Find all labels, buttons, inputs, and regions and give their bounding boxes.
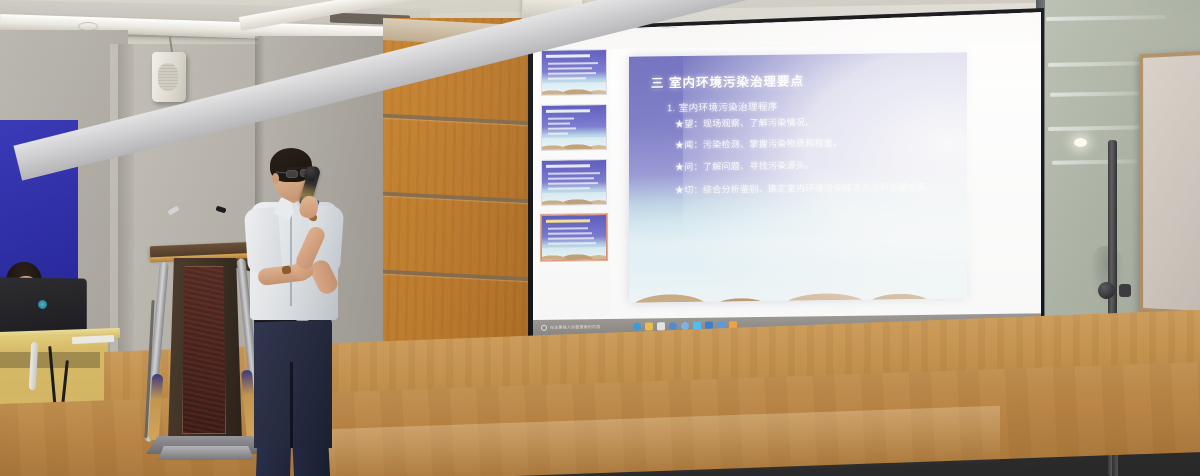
trouser-seam [290,362,293,448]
wrist-band [281,265,291,274]
slide-bullet-list: ★望：现场观察、了解污染情况。 ★闻：污染检测、掌握污染物质和程度。 ★问：了解… [675,116,955,209]
whiteboard[interactable] [1139,50,1200,317]
lecture-hall-photo: 文件 开始 插入 设计 切换 [0,0,1200,476]
taskbar-search-label[interactable]: 在这里输入你要搜索的内容 [550,324,600,331]
presenter-ear [272,173,279,184]
presenter [232,148,362,464]
thumbnail-title-bar [546,219,590,223]
wall-speaker [152,52,186,102]
slide-thumbnail[interactable] [541,104,607,151]
thumbnail-title-bar [546,164,590,168]
slide-thumbnail-selected[interactable] [541,214,607,261]
presenter-trousers [254,318,332,448]
folder-icon[interactable] [645,322,653,330]
slide-thumbnail-panel[interactable] [539,49,611,318]
slide-dune-graphic [629,240,967,302]
edge-icon[interactable] [633,323,641,331]
thumbnail-title-bar [546,109,590,113]
wall-pillar [118,44,134,364]
ribbon-help-icon[interactable] [793,10,805,17]
thumbnail-dunes [542,247,606,260]
store-icon[interactable] [657,322,665,330]
speaker-grille-icon [158,63,178,91]
whiteboard-knob[interactable] [1098,282,1115,299]
thumbnail-dunes [542,82,606,95]
slide-thumbnail[interactable] [541,159,607,206]
whiteboard-clamp[interactable] [1119,284,1131,297]
podium-front-panel [182,266,226,434]
thumbnail-dunes [542,137,606,150]
shirt-placket [290,214,292,306]
shirt-sleeve-left [244,207,282,273]
cortana-icon[interactable] [541,325,547,331]
laptop-logo-icon [38,300,47,309]
slide-bullet: ★切：综合分析鉴别、确定室内环境污染解决方法和治理方案。 [675,181,955,198]
glasses-lens-left [286,170,298,178]
slide-bullet: ★闻：污染检测、掌握污染物质和程度。 [675,138,955,151]
thumbnail-dunes [542,192,606,205]
slide-bullet: ★问：了解问题、寻找污染源头。 [675,159,955,172]
taskbar-start-area[interactable]: 在这里输入你要搜索的内容 [541,324,600,331]
